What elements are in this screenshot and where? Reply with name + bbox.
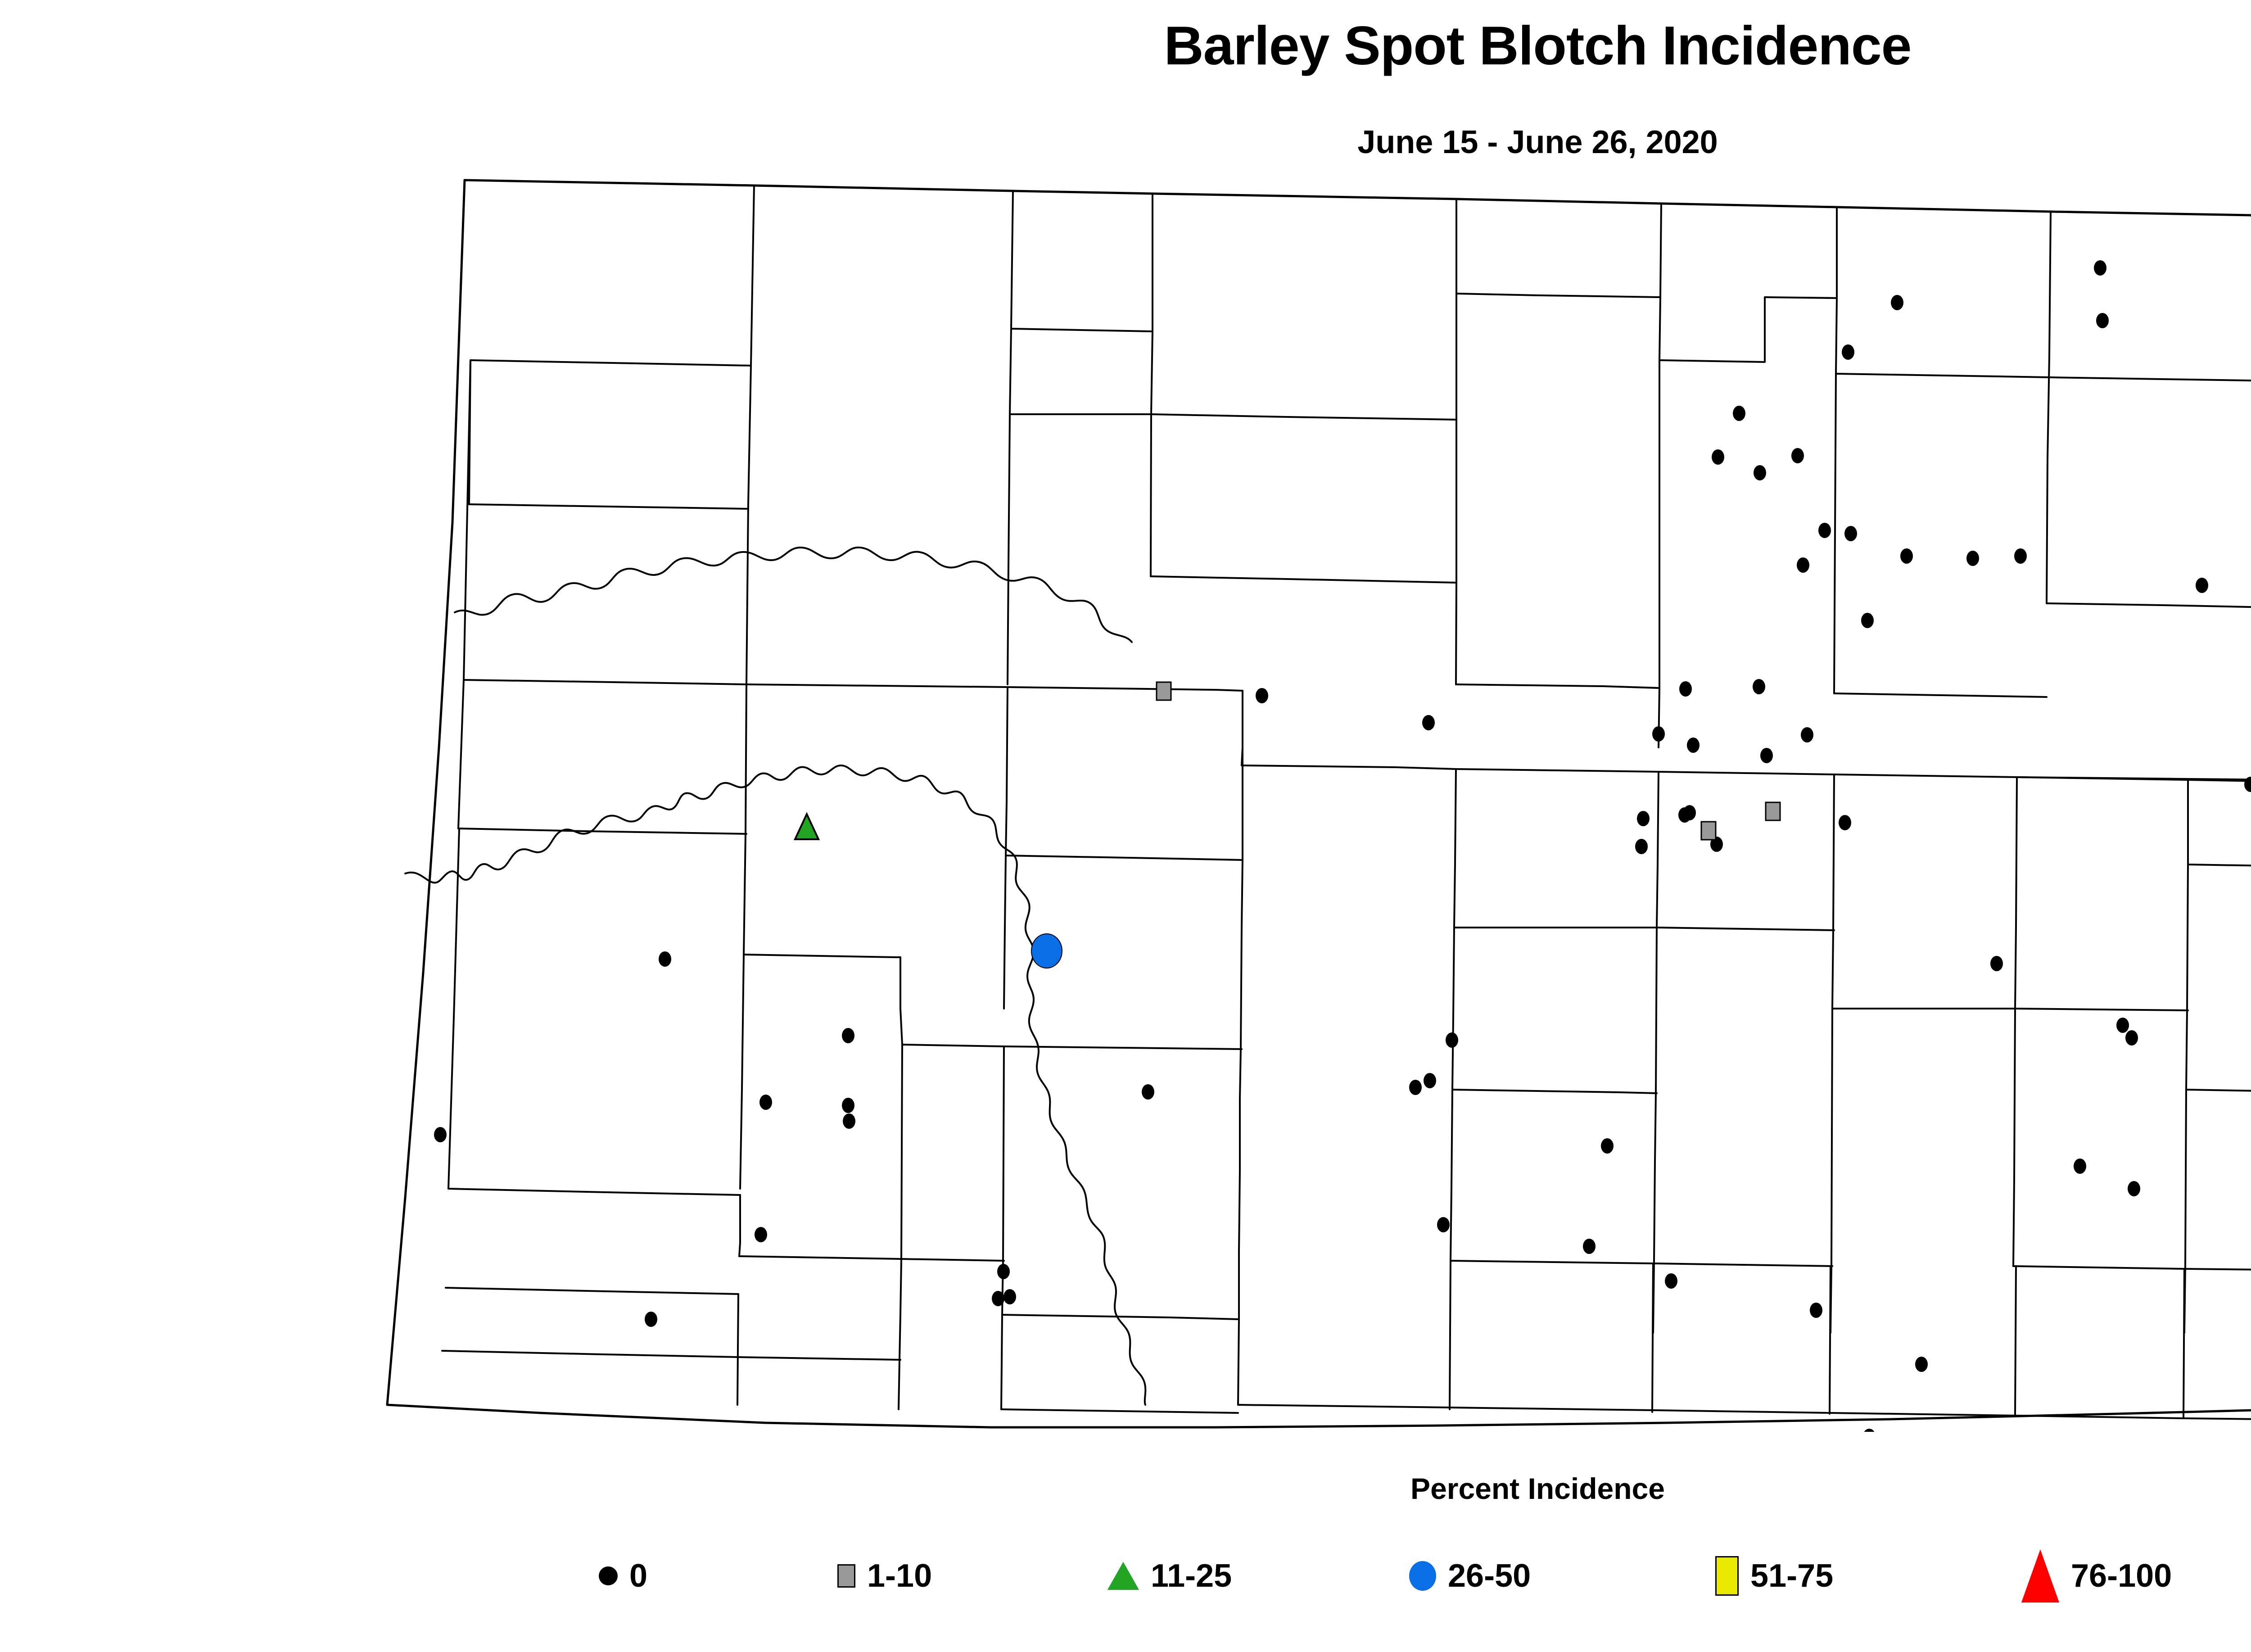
map-marker-0 xyxy=(1863,1429,1876,1432)
legend-item-11-25[interactable]: 11-25 xyxy=(1107,1544,1232,1607)
data-point-markers xyxy=(434,260,2251,1432)
map-marker-0 xyxy=(1818,523,1831,538)
legend-item-1-10[interactable]: 1-10 xyxy=(837,1544,932,1607)
map-marker-0 xyxy=(1733,406,1745,421)
map-marker-0 xyxy=(1844,526,1857,541)
legend-label-1-10: 1-10 xyxy=(867,1557,932,1594)
map-marker-0 xyxy=(1801,727,1813,742)
map-marker-0 xyxy=(759,1095,772,1110)
map-marker-0 xyxy=(1687,738,1700,753)
map-marker-0 xyxy=(1753,679,1765,694)
legend-item-76-100[interactable]: 76-100 xyxy=(2021,1544,2172,1607)
legend-label-11-25: 11-25 xyxy=(1151,1557,1232,1594)
map-marker-0 xyxy=(1679,681,1692,697)
map-marker-0 xyxy=(434,1127,447,1142)
map-marker-0 xyxy=(1583,1239,1596,1254)
map-marker-0 xyxy=(2125,1030,2138,1046)
map-marker-0 xyxy=(755,1227,767,1242)
yellow-square-marker-icon xyxy=(1715,1556,1739,1596)
north-dakota-county-map xyxy=(0,162,2251,1432)
map-marker-11-25 xyxy=(795,814,818,839)
map-marker-0 xyxy=(1652,726,1665,742)
map-marker-0 xyxy=(645,1312,657,1327)
map-marker-0 xyxy=(1256,688,1268,703)
map-marker-0 xyxy=(1635,839,1648,854)
map-marker-0 xyxy=(1437,1217,1450,1232)
map-marker-0 xyxy=(1966,551,1979,566)
map-marker-0 xyxy=(1810,1303,1822,1318)
map-marker-0 xyxy=(992,1291,1004,1306)
map-marker-1-10 xyxy=(1766,802,1780,820)
blue-circle-marker-icon xyxy=(1409,1561,1436,1591)
map-marker-0 xyxy=(1900,548,1913,564)
map-marker-0 xyxy=(2116,1018,2129,1033)
map-svg xyxy=(0,162,2251,1432)
black-circle-marker-icon xyxy=(599,1566,618,1585)
legend-label-51-75: 51-75 xyxy=(1750,1557,1833,1594)
map-marker-0 xyxy=(1839,815,1851,830)
map-marker-0 xyxy=(1760,748,1773,763)
map-marker-0 xyxy=(1142,1084,1154,1100)
map-marker-0 xyxy=(1797,557,1809,573)
map-marker-0 xyxy=(1754,465,1766,480)
page-title: Barley Spot Blotch Incidence xyxy=(0,18,2251,73)
map-marker-0 xyxy=(997,1264,1010,1279)
map-marker-0 xyxy=(1791,448,1804,463)
map-marker-0 xyxy=(1409,1080,1422,1095)
map-marker-1-10 xyxy=(1157,682,1171,700)
map-marker-0 xyxy=(1601,1138,1614,1154)
map-marker-0 xyxy=(1422,715,1435,730)
map-marker-0 xyxy=(1990,956,2003,971)
map-marker-0 xyxy=(2014,548,2027,564)
map-marker-0 xyxy=(1683,805,1696,820)
map-marker-0 xyxy=(2096,313,2109,328)
map-marker-0 xyxy=(2128,1181,2140,1196)
map-marker-0 xyxy=(843,1113,855,1129)
map-marker-0 xyxy=(2094,260,2106,276)
county-boundaries xyxy=(387,180,2251,1427)
green-triangle-marker-icon xyxy=(1107,1562,1139,1590)
map-marker-26-50 xyxy=(1031,934,1062,968)
legend-label-76-100: 76-100 xyxy=(2071,1557,2172,1594)
map-marker-1-10 xyxy=(1701,822,1716,840)
map-marker-0 xyxy=(1446,1032,1458,1048)
map-marker-0 xyxy=(842,1028,854,1043)
map-marker-0 xyxy=(1003,1289,1016,1304)
legend-item-26-50[interactable]: 26-50 xyxy=(1409,1544,1531,1607)
red-triangle-marker-icon xyxy=(2021,1549,2059,1602)
map-marker-0 xyxy=(659,951,671,967)
map-marker-0 xyxy=(2196,578,2208,593)
map-marker-0 xyxy=(1891,295,1903,310)
legend-label-26-50: 26-50 xyxy=(1448,1557,1531,1594)
map-marker-0 xyxy=(1637,811,1650,826)
map-marker-0 xyxy=(1665,1273,1677,1289)
map-marker-0 xyxy=(1915,1357,1928,1372)
legend-item-51-75[interactable]: 51-75 xyxy=(1715,1544,1833,1607)
map-marker-0 xyxy=(1861,613,1874,628)
legend-item-0[interactable]: 0 xyxy=(599,1544,647,1607)
map-marker-0 xyxy=(2074,1159,2086,1174)
legend: 0 1-10 11-25 26-50 51-75 76-100 xyxy=(599,1544,2251,1607)
map-marker-0 xyxy=(1842,344,1854,360)
map-marker-0 xyxy=(842,1098,854,1113)
map-marker-0 xyxy=(1424,1073,1436,1088)
gray-square-marker-icon xyxy=(837,1564,855,1588)
legend-label-0: 0 xyxy=(629,1557,647,1594)
page-subtitle: June 15 - June 26, 2020 xyxy=(0,126,2251,158)
map-marker-0 xyxy=(1712,449,1724,465)
legend-title: Percent Incidence xyxy=(0,1471,2251,1506)
